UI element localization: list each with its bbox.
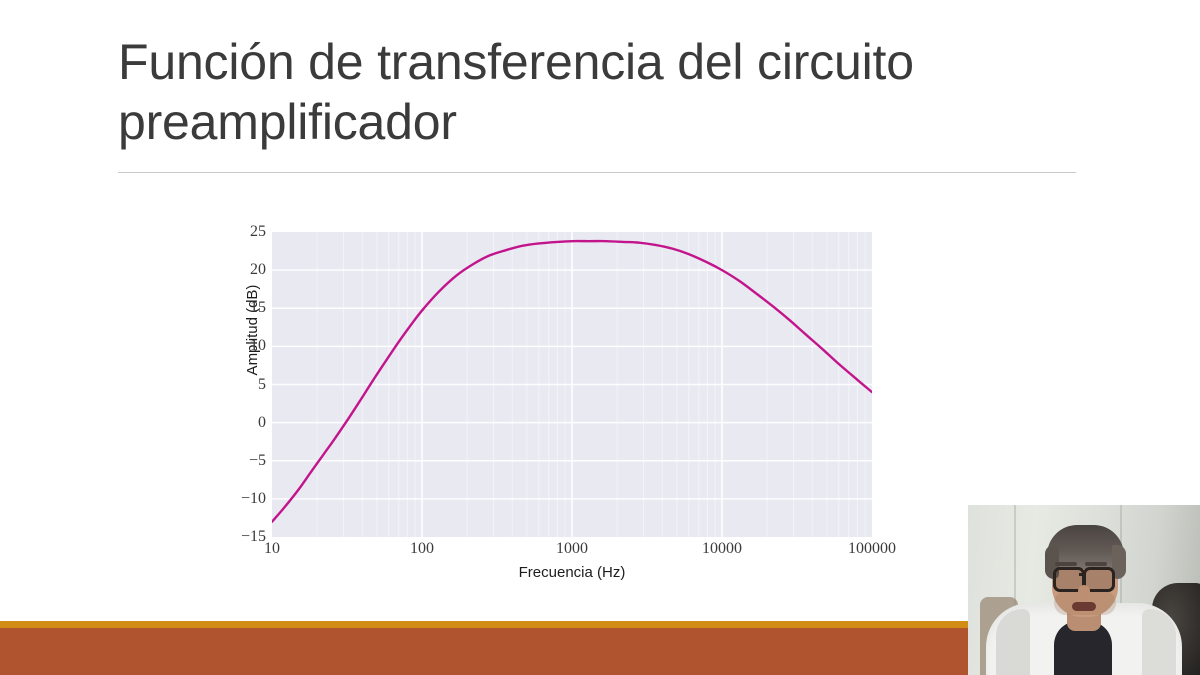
nose	[1078, 585, 1090, 599]
x-tick-label: 100	[410, 540, 434, 558]
title-divider	[118, 172, 1076, 173]
series-line	[272, 241, 872, 522]
lab-coat-lapel-left	[996, 609, 1030, 675]
glasses-bridge	[1079, 573, 1085, 576]
x-tick-label: 10000	[702, 540, 742, 558]
y-tick-label: −5	[224, 452, 266, 470]
eyebrow-left	[1055, 562, 1077, 566]
transfer-function-chart: Amplitud (dB) −15−10−50510152025 1010010…	[196, 212, 916, 597]
presenter-video-feed[interactable]	[968, 505, 1200, 675]
y-tick-label: 20	[224, 261, 266, 279]
x-tick-label: 100000	[848, 540, 896, 558]
y-tick-label: −15	[224, 528, 266, 546]
frequency-response-curve	[272, 232, 872, 537]
eyebrow-right	[1085, 562, 1107, 566]
y-tick-label: 10	[224, 337, 266, 355]
y-tick-label: 0	[224, 414, 266, 432]
y-tick-label: −10	[224, 490, 266, 508]
y-tick-label: 25	[224, 223, 266, 241]
y-tick-label: 5	[224, 376, 266, 394]
x-tick-label: 1000	[556, 540, 588, 558]
plot-area	[272, 232, 872, 537]
x-axis-ticks: 10100100010000100000	[272, 540, 872, 562]
slide-canvas: Función de transferencia del circuito pr…	[0, 0, 1200, 675]
y-tick-label: 15	[224, 299, 266, 317]
mouth	[1072, 602, 1096, 611]
webcam-scene	[968, 505, 1200, 675]
page-title: Función de transferencia del circuito pr…	[118, 32, 1078, 152]
x-axis-label: Frecuencia (Hz)	[272, 564, 872, 581]
y-axis-ticks: −15−10−50510152025	[224, 232, 266, 537]
x-tick-label: 10	[264, 540, 280, 558]
title-block: Función de transferencia del circuito pr…	[118, 32, 1078, 152]
